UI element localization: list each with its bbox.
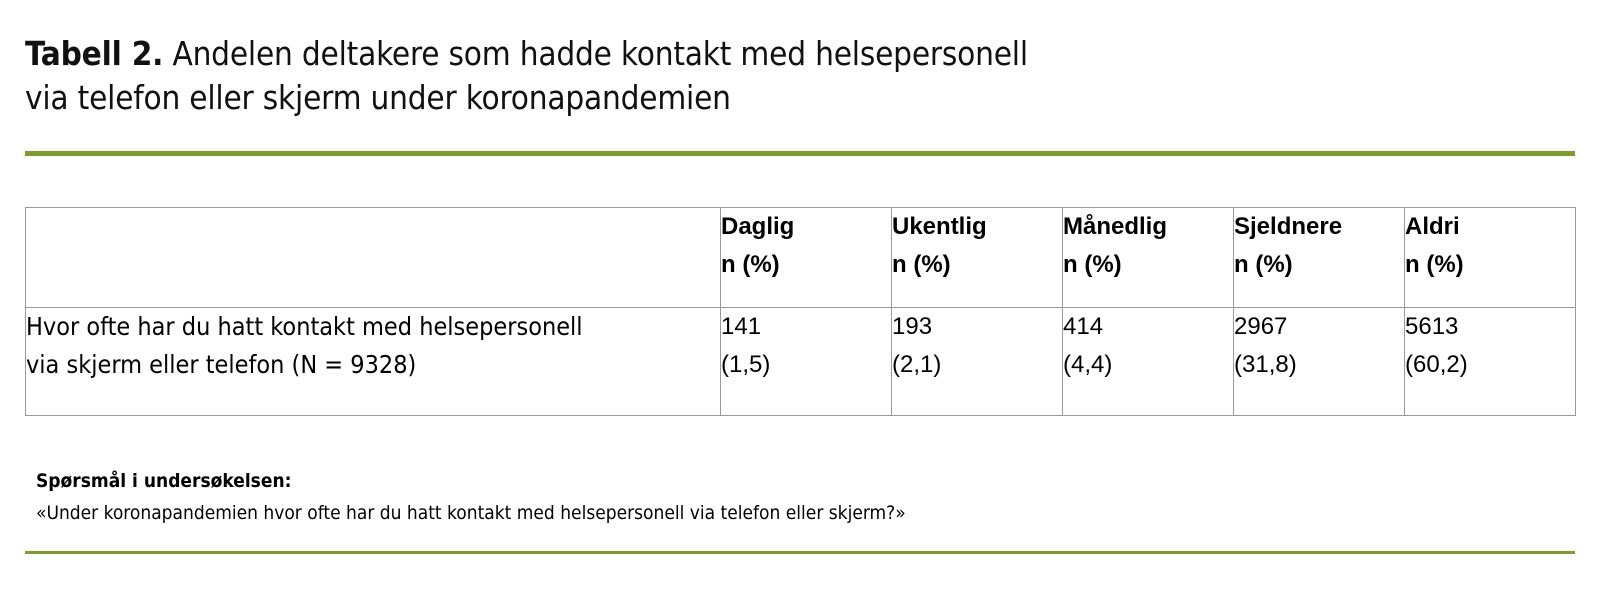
cell-ukentlig-percent: (2,1): [892, 346, 1062, 384]
row-label-line-1: Hvor ofte har du hatt kontakt med helsep…: [26, 308, 720, 346]
cell-daglig: 141 (1,5): [721, 308, 892, 416]
column-header-daglig-unit: n (%): [721, 246, 891, 284]
cell-ukentlig: 193 (2,1): [892, 308, 1063, 416]
footnote-body: «Under koronapandemien hvor ofte har du …: [36, 500, 1536, 527]
column-header-daglig: Daglig n (%): [721, 208, 892, 308]
cell-daglig-percent: (1,5): [721, 346, 891, 384]
cell-aldri-count: 5613: [1405, 308, 1575, 346]
footnote-heading: Spørsmål i undersøkelsen:: [36, 468, 1536, 495]
column-header-row-label: [26, 208, 721, 308]
column-header-aldri: Aldri n (%): [1405, 208, 1576, 308]
column-header-sjeldnere-unit: n (%): [1234, 246, 1404, 284]
column-header-daglig-name: Daglig: [721, 208, 891, 246]
column-header-manedlig-unit: n (%): [1063, 246, 1233, 284]
column-header-aldri-unit: n (%): [1405, 246, 1575, 284]
table-figure-page: Tabell 2. Andelen deltakere som hadde ko…: [0, 0, 1600, 610]
cell-aldri-percent: (60,2): [1405, 346, 1575, 384]
data-table: Daglig n (%) Ukentlig n (%) Månedlig n (…: [25, 207, 1576, 416]
title-line-1: Tabell 2. Andelen deltakere som hadde ko…: [25, 32, 1425, 76]
cell-manedlig-count: 414: [1063, 308, 1233, 346]
data-table-wrapper: Daglig n (%) Ukentlig n (%) Månedlig n (…: [25, 207, 1575, 416]
cell-sjeldnere: 2967 (31,8): [1234, 308, 1405, 416]
column-header-manedlig-name: Månedlig: [1063, 208, 1233, 246]
cell-manedlig-percent: (4,4): [1063, 346, 1233, 384]
column-header-manedlig: Månedlig n (%): [1063, 208, 1234, 308]
column-header-sjeldnere: Sjeldnere n (%): [1234, 208, 1405, 308]
column-header-ukentlig-name: Ukentlig: [892, 208, 1062, 246]
cell-aldri: 5613 (60,2): [1405, 308, 1576, 416]
cell-manedlig: 414 (4,4): [1063, 308, 1234, 416]
column-header-ukentlig-unit: n (%): [892, 246, 1062, 284]
title-line-2: via telefon eller skjerm under koronapan…: [25, 76, 1425, 120]
column-header-aldri-name: Aldri: [1405, 208, 1575, 246]
title-label-prefix: Tabell 2.: [25, 34, 163, 73]
table-header: Daglig n (%) Ukentlig n (%) Månedlig n (…: [26, 208, 1576, 308]
accent-rule-top: [25, 151, 1575, 156]
accent-rule-bottom: [25, 551, 1575, 554]
table-body: Hvor ofte har du hatt kontakt med helsep…: [26, 308, 1576, 416]
column-header-ukentlig: Ukentlig n (%): [892, 208, 1063, 308]
row-label-cell: Hvor ofte har du hatt kontakt med helsep…: [26, 308, 721, 416]
footnote: Spørsmål i undersøkelsen: «Under koronap…: [36, 468, 1536, 527]
table-row: Hvor ofte har du hatt kontakt med helsep…: [26, 308, 1576, 416]
row-label-line-2: via skjerm eller telefon (N = 9328): [26, 346, 720, 384]
page-title: Tabell 2. Andelen deltakere som hadde ko…: [25, 32, 1425, 120]
column-header-sjeldnere-name: Sjeldnere: [1234, 208, 1404, 246]
table-header-row: Daglig n (%) Ukentlig n (%) Månedlig n (…: [26, 208, 1576, 308]
cell-sjeldnere-count: 2967: [1234, 308, 1404, 346]
title-line-1-rest: Andelen deltakere som hadde kontakt med …: [163, 34, 1028, 73]
cell-ukentlig-count: 193: [892, 308, 1062, 346]
cell-sjeldnere-percent: (31,8): [1234, 346, 1404, 384]
cell-daglig-count: 141: [721, 308, 891, 346]
